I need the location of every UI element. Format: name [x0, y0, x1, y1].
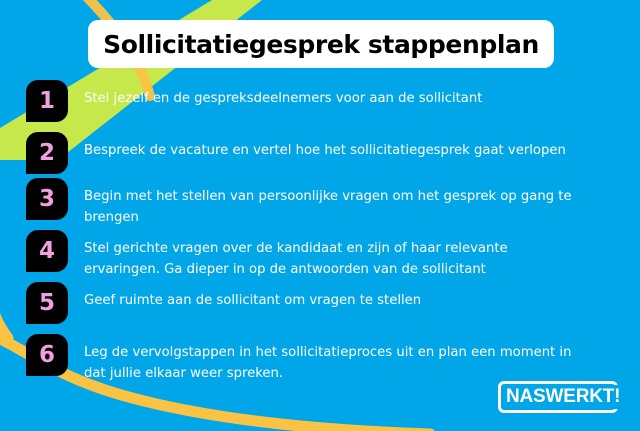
step-number-badge: 5 — [26, 282, 68, 324]
list-item: 2 Bespreek de vacature en vertel hoe het… — [0, 132, 640, 176]
logo-text: NASWERKT! — [506, 381, 620, 413]
steps-list: 1 Stel jezelf en de gespreksdeelnemers v… — [0, 80, 640, 390]
step-text: Leg de vervolgstappen in het sollicitati… — [84, 334, 580, 384]
list-item: 3 Begin met het stellen van persoonlijke… — [0, 178, 640, 228]
step-text: Bespreek de vacature en vertel hoe het s… — [84, 132, 580, 161]
list-item: 1 Stel jezelf en de gespreksdeelnemers v… — [0, 80, 640, 124]
list-item: 4 Stel gerichte vragen over de kandidaat… — [0, 230, 640, 280]
step-text: Stel jezelf en de gespreksdeelnemers voo… — [84, 80, 580, 109]
step-number-badge: 4 — [26, 230, 68, 272]
step-number-badge: 3 — [26, 178, 68, 220]
step-number-badge: 1 — [26, 80, 68, 122]
title-card: Sollicitatiegesprek stappenplan — [88, 20, 554, 68]
poster-canvas: Sollicitatiegesprek stappenplan 1 Stel j… — [0, 0, 640, 431]
page-title: Sollicitatiegesprek stappenplan — [103, 30, 539, 59]
step-number-badge: 6 — [26, 334, 68, 376]
step-number-badge: 2 — [26, 132, 68, 174]
list-item: 5 Geef ruimte aan de sollicitant om vrag… — [0, 282, 640, 326]
step-text: Stel gerichte vragen over de kandidaat e… — [84, 230, 580, 280]
list-item: 6 Leg de vervolgstappen in het sollicita… — [0, 334, 640, 384]
step-text: Geef ruimte aan de sollicitant om vragen… — [84, 282, 580, 311]
step-text: Begin met het stellen van persoonlijke v… — [84, 178, 580, 228]
brand-logo: NASWERKT! — [498, 381, 618, 413]
